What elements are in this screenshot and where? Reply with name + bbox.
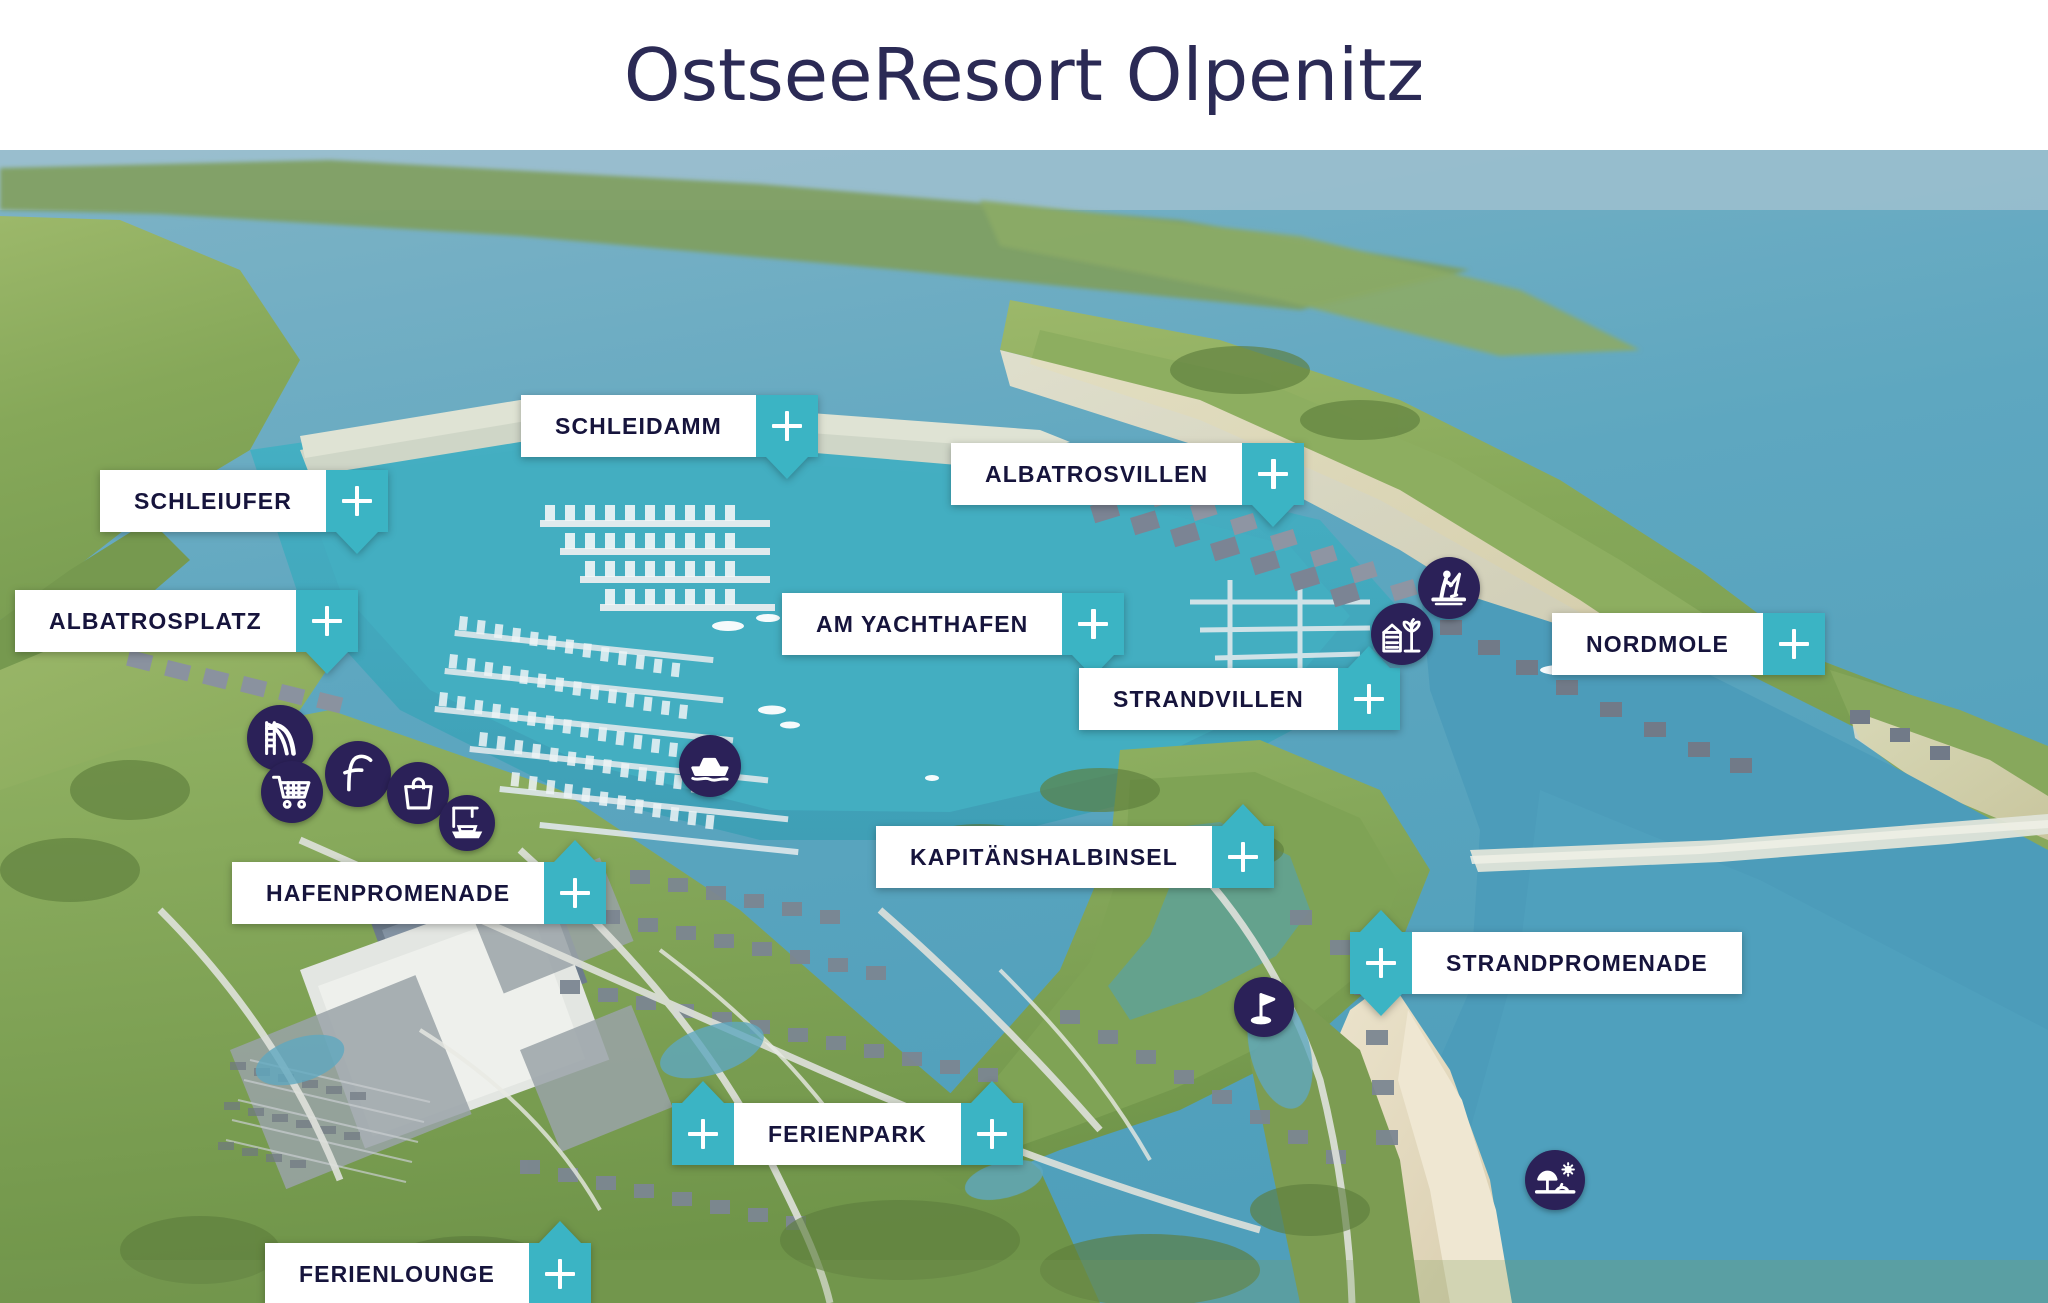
poi-golf[interactable] (1234, 977, 1294, 1037)
golf-icon (1234, 977, 1294, 1037)
hotspot-label-box[interactable]: KAPITÄNSHALBINSEL (876, 826, 1212, 888)
hotspot-label-box[interactable]: FERIENLOUNGE (265, 1243, 529, 1303)
pointer-up-icon (1360, 910, 1402, 932)
plus-icon-ferienpark-right[interactable] (961, 1103, 1023, 1165)
hotspot-albatrosplatz[interactable]: ALBATROSPLATZ (15, 590, 358, 652)
pointer-down-icon (1360, 994, 1402, 1016)
hotspot-label-text: SCHLEIUFER (134, 488, 292, 515)
resort-house-icon (1371, 603, 1433, 665)
hotspot-nordmole[interactable]: NORDMOLE (1552, 613, 1825, 675)
beach-icon (1525, 1150, 1585, 1210)
plus-icon-albatrosvillen-right[interactable] (1242, 443, 1304, 505)
hotspot-label-box[interactable]: SCHLEIUFER (100, 470, 326, 532)
title-bar: OstseeResort Olpenitz (0, 0, 2048, 150)
hotspot-label-box[interactable]: AM YACHTHAFEN (782, 593, 1062, 655)
hotspot-label-text: SCHLEIDAMM (555, 413, 722, 440)
motorboat-icon (679, 735, 741, 797)
plus-icon-strandvillen-right[interactable] (1338, 668, 1400, 730)
hotspot-am-yachthafen[interactable]: AM YACHTHAFEN (782, 593, 1124, 655)
hotspot-strandvillen[interactable]: STRANDVILLEN (1079, 668, 1400, 730)
hotspot-label-box[interactable]: HAFENPROMENADE (232, 862, 544, 924)
hotspot-label-text: KAPITÄNSHALBINSEL (910, 844, 1178, 871)
hotspot-label-text: HAFENPROMENADE (266, 880, 510, 907)
hotspot-label-box[interactable]: SCHLEIDAMM (521, 395, 756, 457)
poi-shopping-cart[interactable] (261, 761, 323, 823)
pointer-up-icon (1222, 804, 1264, 826)
map-page: OstseeResort Olpenitz (0, 0, 2048, 1303)
hotspot-label-text: NORDMOLE (1586, 631, 1729, 658)
plus-icon-nordmole-right[interactable] (1763, 613, 1825, 675)
plus-icon-ferienpark-left[interactable] (672, 1103, 734, 1165)
pointer-down-icon (766, 457, 808, 479)
pointer-up-icon (554, 840, 596, 862)
poi-resort-house[interactable] (1371, 603, 1433, 665)
poi-boat-crane[interactable] (439, 795, 495, 851)
plus-icon-albatrosplatz-right[interactable] (296, 590, 358, 652)
pointer-up-icon (682, 1081, 724, 1103)
plus-icon-hafenpromenade-right[interactable] (544, 862, 606, 924)
resort-aerial-map: SCHLEIDAMMSCHLEIUFERALBATROSVILLENALBATR… (0, 150, 2048, 1303)
hotspot-schleiufer[interactable]: SCHLEIUFER (100, 470, 388, 532)
hotspot-label-box[interactable]: NORDMOLE (1552, 613, 1763, 675)
pointer-up-icon (971, 1081, 1013, 1103)
f-logo-icon (325, 741, 391, 807)
hotspot-label-text: STRANDVILLEN (1113, 686, 1304, 713)
hotspot-hafenpromenade[interactable]: HAFENPROMENADE (232, 862, 606, 924)
hotspot-label-box[interactable]: ALBATROSVILLEN (951, 443, 1242, 505)
pointer-down-icon (306, 652, 348, 674)
plus-icon-kapitaenshalbinsel-right[interactable] (1212, 826, 1274, 888)
hotspot-label-text: ALBATROSPLATZ (49, 608, 262, 635)
poi-beach[interactable] (1525, 1150, 1585, 1210)
hotspot-strandpromenade[interactable]: STRANDPROMENADE (1350, 932, 1742, 994)
hotspot-label-box[interactable]: ALBATROSPLATZ (15, 590, 296, 652)
hotspot-label-text: ALBATROSVILLEN (985, 461, 1208, 488)
plus-icon-schleidamm-right[interactable] (756, 395, 818, 457)
hotspot-ferienlounge[interactable]: FERIENLOUNGE (265, 1243, 591, 1303)
poi-f-brand[interactable] (325, 741, 391, 807)
shopping-cart-icon (261, 761, 323, 823)
plus-icon-strandpromenade-left[interactable] (1350, 932, 1412, 994)
hotspot-label-text: FERIENPARK (768, 1121, 927, 1148)
hotspot-label-text: STRANDPROMENADE (1446, 950, 1708, 977)
hotspot-label-box[interactable]: FERIENPARK (734, 1103, 961, 1165)
boat-crane-icon (439, 795, 495, 851)
page-title: OstseeResort Olpenitz (624, 33, 1424, 117)
poi-motorboat[interactable] (679, 735, 741, 797)
hotspot-albatrosvillen[interactable]: ALBATROSVILLEN (951, 443, 1304, 505)
hotspot-label-text: AM YACHTHAFEN (816, 611, 1028, 638)
hotspot-label-box[interactable]: STRANDVILLEN (1079, 668, 1338, 730)
plus-icon-schleiufer-right[interactable] (326, 470, 388, 532)
hotspot-label-text: FERIENLOUNGE (299, 1261, 495, 1288)
plus-icon-ferienlounge-right[interactable] (529, 1243, 591, 1303)
pointer-down-icon (1252, 505, 1294, 527)
hotspot-ferienpark[interactable]: FERIENPARK (672, 1103, 1023, 1165)
pointer-up-icon (539, 1221, 581, 1243)
hotspot-label-box[interactable]: STRANDPROMENADE (1412, 932, 1742, 994)
plus-icon-am-yachthafen-right[interactable] (1062, 593, 1124, 655)
hotspot-schleidamm[interactable]: SCHLEIDAMM (521, 395, 818, 457)
hotspot-kapitaenshalbinsel[interactable]: KAPITÄNSHALBINSEL (876, 826, 1274, 888)
pointer-down-icon (336, 532, 378, 554)
